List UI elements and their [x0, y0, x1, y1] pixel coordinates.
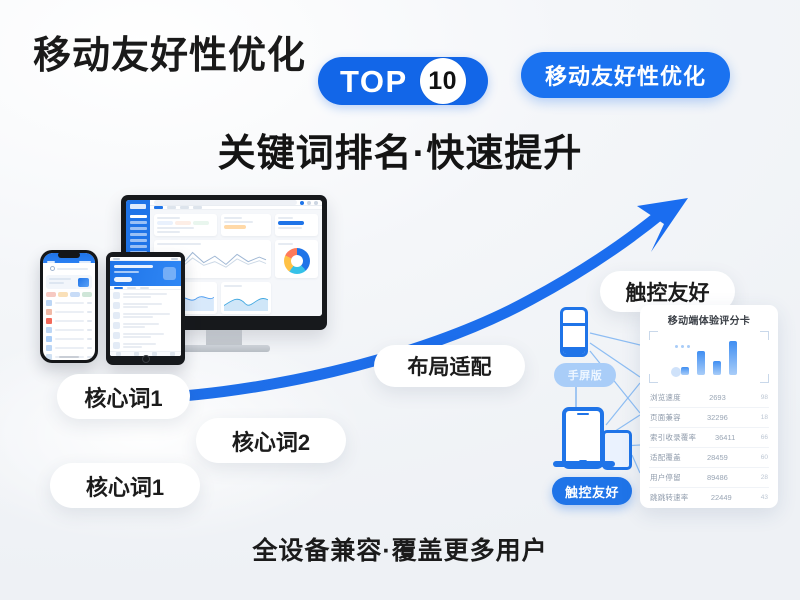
tablet-banner [110, 261, 181, 286]
touch-friendly-label: 触控友好 [626, 277, 710, 307]
chart-bars [649, 335, 769, 375]
list-item [46, 345, 92, 351]
row-value: 36411 [715, 433, 735, 442]
table-row: 索引收录覆率 36411 66 [649, 428, 769, 448]
keyword-pill-3[interactable]: 核心词1 [50, 463, 200, 508]
table-row: 浏览速度 2693 98 [649, 388, 769, 408]
row-value: 32296 [707, 413, 728, 422]
list-item [46, 327, 92, 333]
list-item [46, 300, 92, 306]
page-title: 移动友好性优化 [33, 24, 306, 79]
dashboard-card [275, 214, 318, 236]
table-row: 页面兼容 32296 18 [649, 408, 769, 428]
table-row: 适配覆盖 28459 60 [649, 448, 769, 468]
banner-icon [163, 267, 176, 280]
list-item [113, 312, 178, 319]
phone-list [43, 297, 95, 360]
donut-chart [284, 248, 310, 274]
phone-mockup [40, 250, 98, 363]
list-item [46, 318, 92, 324]
row-value: 28459 [707, 453, 728, 462]
top-badge-number: 10 [428, 67, 457, 96]
header-tag-pill[interactable]: 移动友好性优化 [521, 52, 730, 98]
top-badge-word: TOP [318, 66, 420, 97]
dashboard-icon [314, 201, 318, 205]
top-badge-circle: 10 [420, 58, 466, 104]
sidebar-item [130, 221, 147, 224]
row-value: 22449 [711, 493, 732, 502]
row-label: 浏览速度 [650, 392, 681, 403]
sidebar-item [130, 215, 147, 218]
list-item [113, 302, 178, 309]
tablet-icon [562, 407, 604, 469]
phone-tag-row [43, 289, 95, 297]
tablet-home-button [142, 355, 150, 363]
row-sub: 18 [754, 414, 768, 421]
row-label: 页面兼容 [650, 412, 681, 423]
row-value: 89486 [707, 473, 728, 482]
dashboard-card [221, 214, 271, 236]
sidebar-item [130, 239, 147, 242]
dashboard-donut-card [275, 240, 318, 278]
table-row: 用户停留 89486 28 [649, 468, 769, 488]
phone-notch [58, 252, 80, 258]
list-item [113, 292, 178, 299]
row-label: 用户停留 [650, 472, 681, 483]
keyword-pill-3-label: 核心词1 [86, 470, 164, 502]
keyword-pill-2[interactable]: 核心词2 [196, 418, 346, 463]
header-tag-label: 移动友好性优化 [545, 59, 706, 91]
top-rank-badge: TOP 10 [318, 57, 488, 105]
mobile-experience-diagram: 手屏版 触控友好 移动端体验评分卡 浏览速度 2693 [548, 305, 780, 510]
row-value: 2693 [709, 393, 726, 402]
search-icon [50, 266, 55, 271]
diagram-touch-label: 触控友好 [552, 477, 632, 505]
table-row: 跳跳转速率 22449 43 [649, 488, 769, 507]
dashboard-tab [167, 206, 176, 209]
phone-home-indicator [59, 356, 79, 358]
dashboard-tab [180, 206, 189, 209]
score-card-rows: 浏览速度 2693 98 页面兼容 32296 18 索引收录覆率 36411 … [649, 388, 769, 507]
score-card-chart [649, 331, 769, 383]
row-label: 索引收录覆率 [650, 432, 696, 443]
poster-canvas: 移动友好性优化 TOP 10 移动友好性优化 关键词排名·快速提升 [0, 0, 800, 600]
row-sub: 66 [754, 434, 768, 441]
monitor-base [178, 345, 270, 352]
dashboard-icon [307, 201, 311, 205]
dashboard-card [154, 214, 217, 236]
dashboard-search-input [154, 200, 297, 205]
tablet-screen [110, 257, 181, 356]
tablet-list [110, 290, 181, 351]
keyword-pill-1-label: 核心词1 [84, 381, 162, 413]
list-item [113, 332, 178, 339]
laptop-base-icon [553, 461, 615, 467]
score-card: 移动端体验评分卡 浏览速度 2693 98 页 [640, 305, 778, 508]
row-label: 跳跳转速率 [650, 492, 689, 503]
diagram-mini-label: 手屏版 [554, 363, 616, 387]
layout-adaptation-pill[interactable]: 布局适配 [374, 345, 525, 387]
footer-tagline: 全设备兼容·覆盖更多用户 [0, 531, 800, 567]
list-item [46, 336, 92, 342]
promo-thumbnail [78, 278, 89, 287]
sidebar-item [130, 233, 147, 236]
dashboard-tab [154, 206, 163, 209]
keyword-pill-2-label: 核心词2 [232, 425, 310, 457]
row-sub: 28 [754, 474, 768, 481]
row-sub: 98 [754, 394, 768, 401]
row-label: 适配覆盖 [650, 452, 681, 463]
score-card-title: 移动端体验评分卡 [649, 312, 769, 327]
dashboard-avatar [300, 201, 304, 205]
device-mockup-group [30, 195, 330, 395]
list-item [46, 309, 92, 315]
list-item [113, 342, 178, 349]
layout-adaptation-label: 布局适配 [408, 351, 492, 381]
phone-search-input [47, 266, 91, 271]
row-sub: 43 [754, 494, 768, 501]
list-item [113, 322, 178, 329]
keyword-pill-1[interactable]: 核心词1 [57, 374, 190, 419]
phone-icon [560, 307, 588, 357]
sidebar-item [130, 227, 147, 230]
sidebar-item [130, 245, 147, 248]
dashboard-logo [130, 204, 146, 209]
row-sub: 60 [754, 454, 768, 461]
dashboard-area-card [221, 282, 271, 314]
dashboard-tab [193, 206, 202, 209]
phone-promo-card [46, 275, 92, 289]
tablet-mockup [106, 252, 185, 365]
page-subtitle: 关键词排名·快速提升 [0, 122, 800, 177]
area-chart [224, 289, 268, 311]
phone-screen [43, 253, 95, 360]
